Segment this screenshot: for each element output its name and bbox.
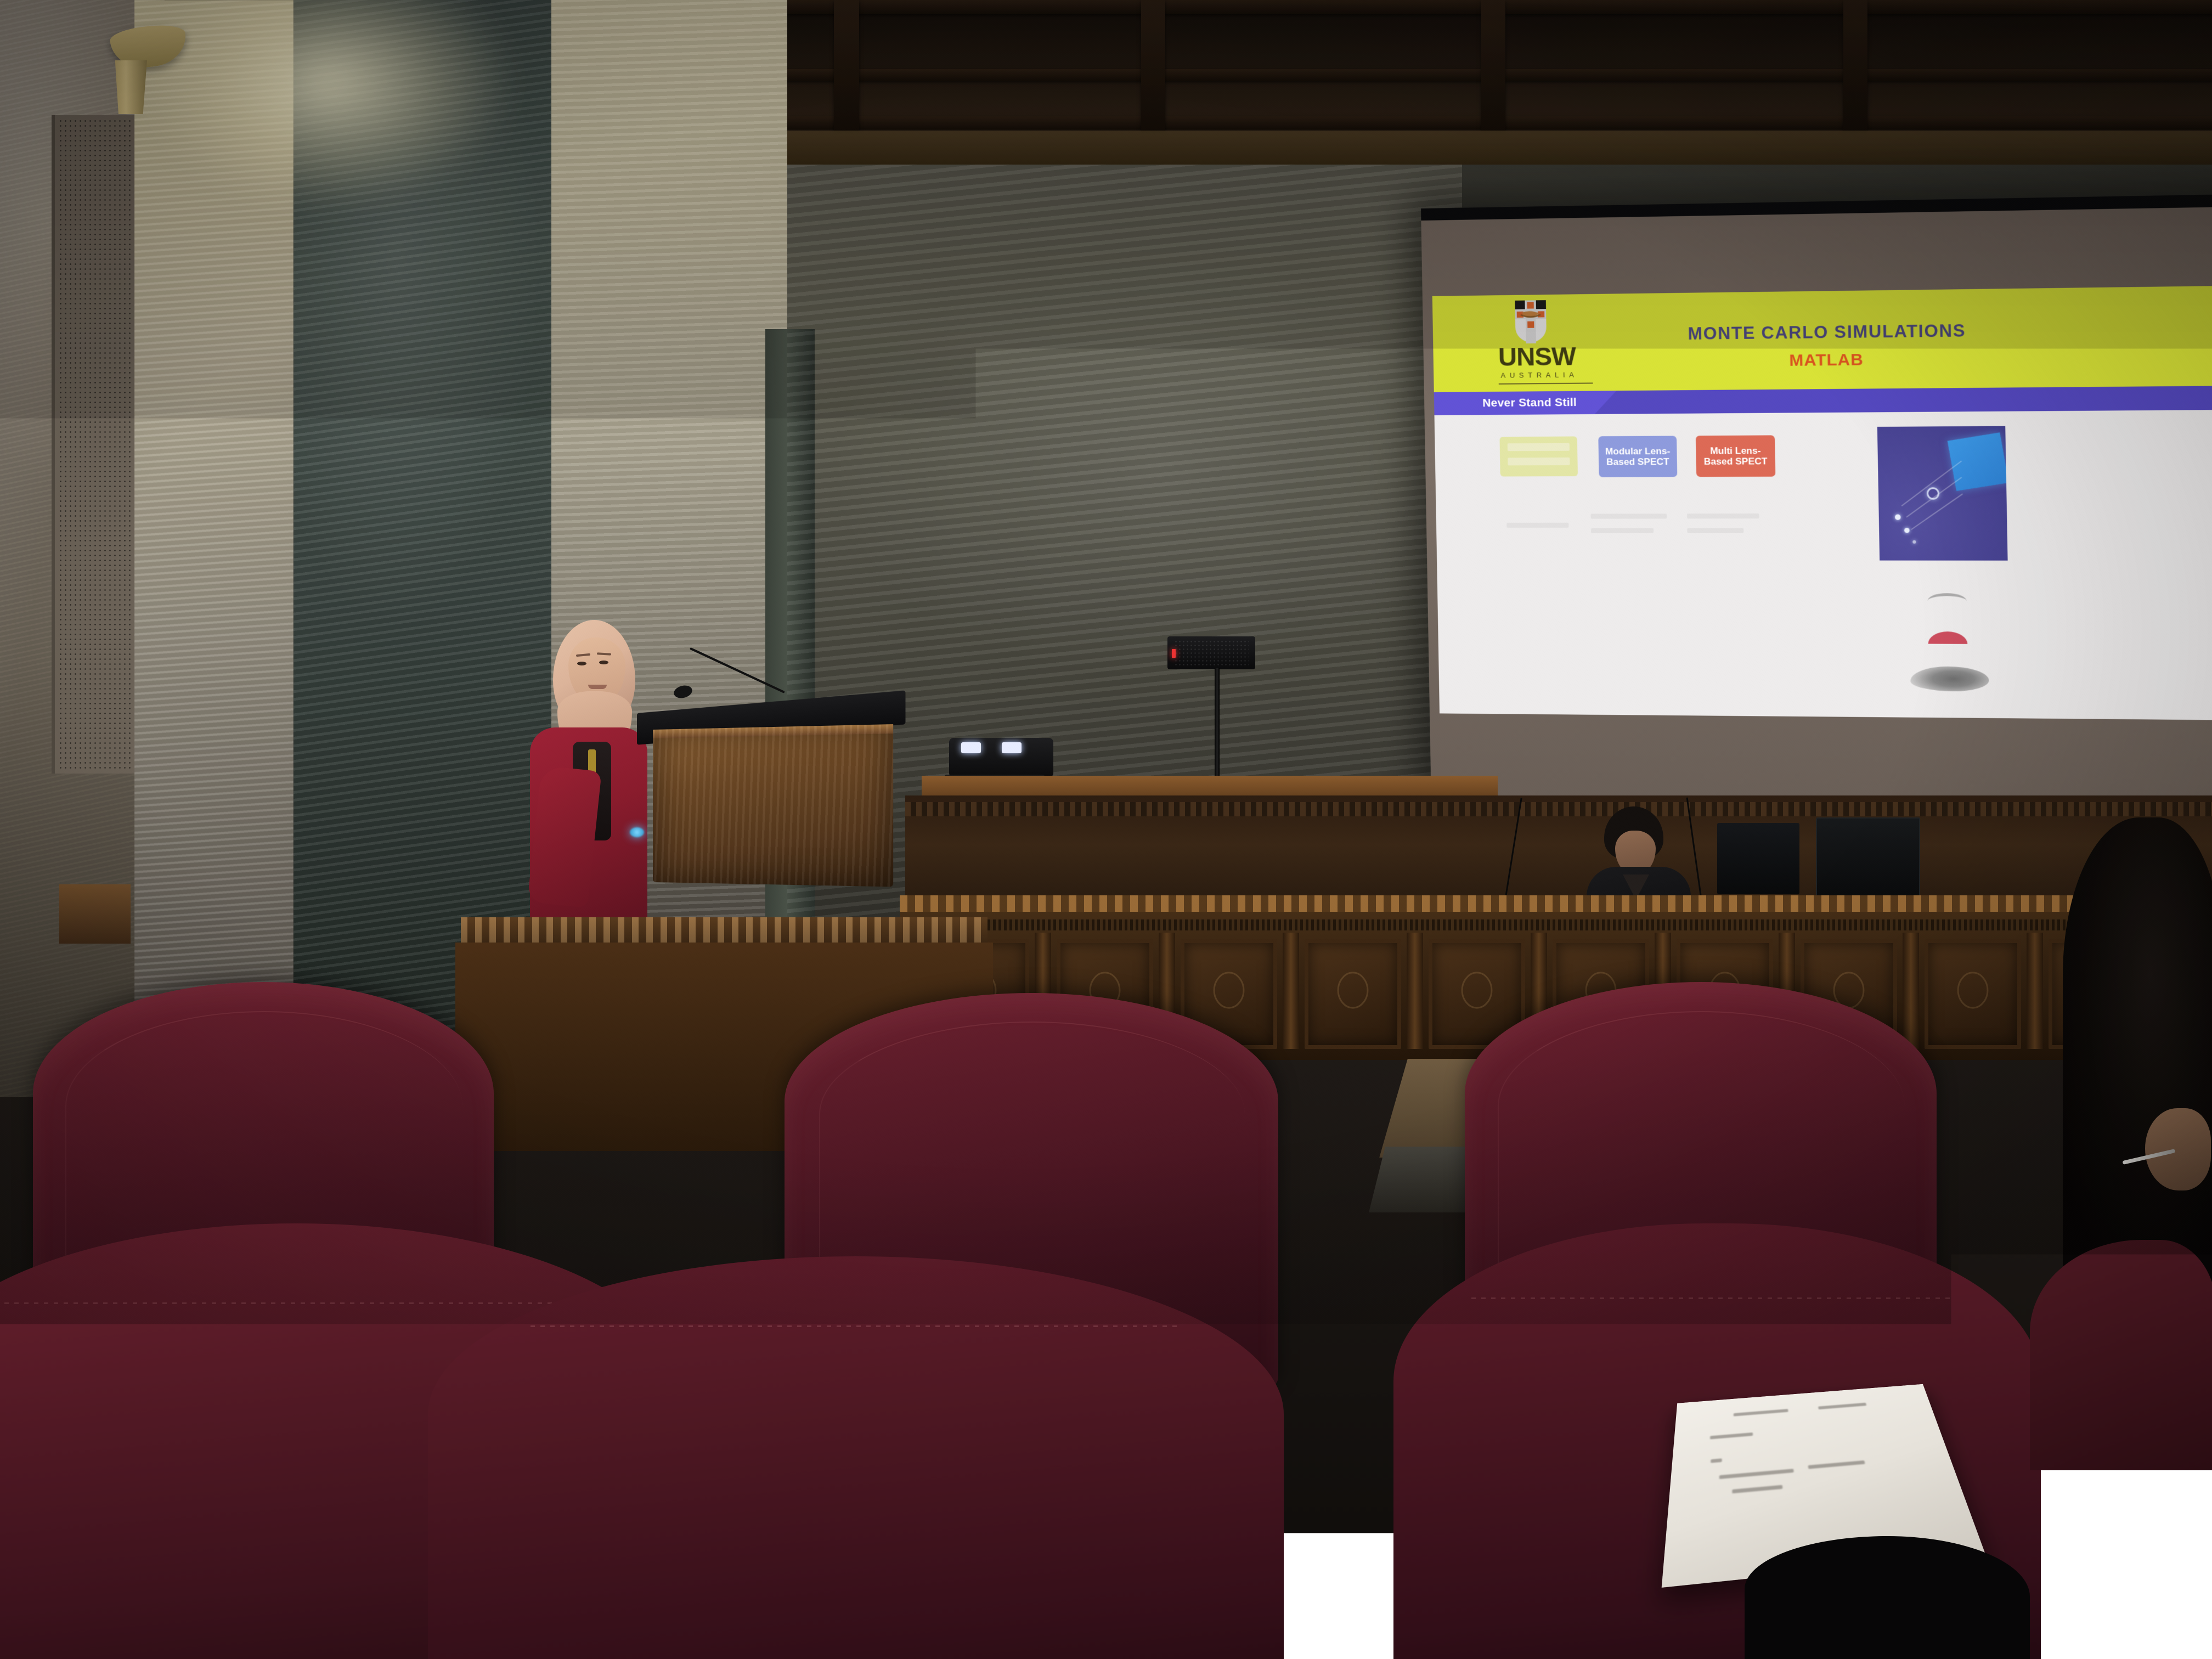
carved-pilaster <box>1903 933 1919 1049</box>
lectern-front-panel <box>653 724 893 887</box>
gray-arc-figure <box>1927 593 1967 601</box>
bench-monitor-left <box>1717 823 1799 894</box>
audience-member-shoulder <box>2030 1240 2212 1470</box>
unsw-divider <box>1499 382 1593 384</box>
lectern <box>653 724 893 900</box>
bench-trim-lower <box>900 919 2212 930</box>
conference-photo: UNSW AUSTRALIA Canberra MONTE CARLO SIMU… <box>0 0 2212 1659</box>
auditorium-seat-front-centre <box>428 1256 1284 1659</box>
marble-pilaster-lit <box>134 0 294 1031</box>
slide-title: MONTE CARLO SIMULATIONS <box>1433 318 2212 347</box>
monte-carlo-ray-trace-figure <box>1877 426 2008 561</box>
loudspeaker-pole <box>1215 668 1220 778</box>
bench-monitor-right <box>1816 817 1920 900</box>
camera-indicator-right <box>1002 742 1022 753</box>
aperture-ring <box>1927 487 1940 500</box>
notepad-occluder <box>1745 1536 2030 1659</box>
video-camera <box>949 738 1053 777</box>
slide-body: Modular Lens-Based SPECT Multi Lens-Base… <box>1435 410 2212 720</box>
carved-panel <box>1925 939 2021 1049</box>
loudspeaker <box>1167 636 1255 669</box>
slide-header: UNSW AUSTRALIA Canberra MONTE CARLO SIMU… <box>1432 286 2212 392</box>
sconce-stem <box>113 60 147 114</box>
marble-wall-dark-green <box>294 0 551 1042</box>
carved-panel <box>1305 939 1401 1049</box>
slide-tagline: Never Stand Still <box>1482 396 1577 410</box>
lectern-status-led <box>630 827 644 837</box>
slide-chip-multi-lens-spect: Multi Lens-Based SPECT <box>1696 435 1775 477</box>
presentation-slide: UNSW AUSTRALIA Canberra MONTE CARLO SIMU… <box>1432 286 2212 720</box>
slide-chip-modular-lens-spect: Modular Lens-Based SPECT <box>1598 436 1677 477</box>
slide-chip-washed-out <box>1499 436 1578 476</box>
gray-blob-figure <box>1910 666 1989 691</box>
projection-screen: UNSW AUSTRALIA Canberra MONTE CARLO SIMU… <box>1421 194 2212 818</box>
loudspeaker-power-led <box>1172 649 1176 658</box>
carved-pilaster <box>1283 933 1299 1049</box>
bench-dentil-moulding <box>905 802 2212 816</box>
ventilation-grille <box>52 115 138 774</box>
carved-pilaster <box>1407 933 1423 1049</box>
audience-member-ear <box>2145 1108 2211 1190</box>
detector-plane <box>1948 432 2008 491</box>
presenter-mouth <box>588 685 607 689</box>
camera-indicator-left <box>961 742 981 753</box>
carved-pilaster <box>2027 933 2043 1049</box>
red-arc-figure <box>1928 631 1967 644</box>
bench-trim-upper <box>900 895 2212 912</box>
lectern-pedestal <box>59 884 131 944</box>
